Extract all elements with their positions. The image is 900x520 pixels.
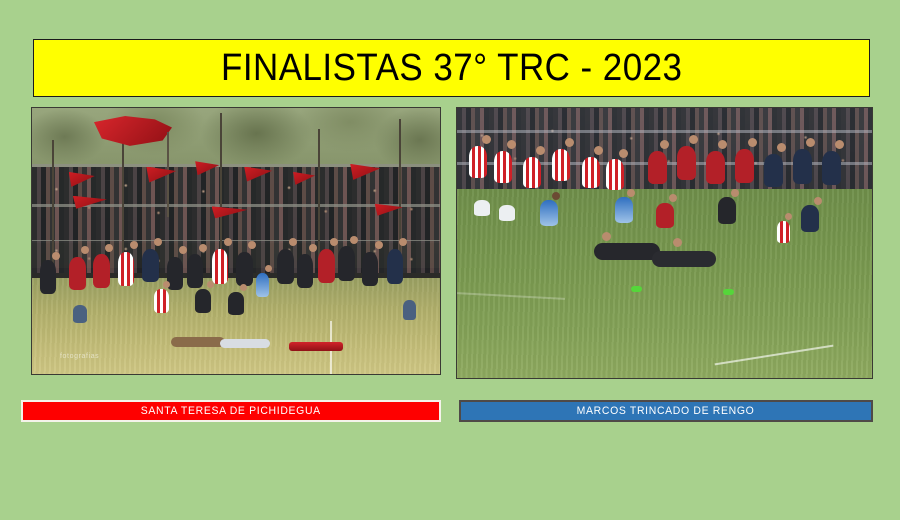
person	[142, 249, 159, 282]
person-kneeling	[228, 292, 244, 315]
person-lying	[171, 337, 225, 347]
player-head	[731, 189, 739, 197]
photo-santa-teresa-scene: fotografias	[32, 108, 440, 374]
player-head	[565, 138, 574, 147]
player	[469, 146, 487, 178]
player-shorts	[474, 200, 490, 216]
poster-canvas: FINALISTAS 37° TRC - 2023	[0, 0, 900, 520]
player-tracksuit	[677, 146, 696, 180]
person-legs	[403, 300, 416, 320]
stand-rail	[457, 130, 872, 133]
staff-head	[835, 140, 844, 149]
fence-post	[122, 124, 124, 273]
child	[256, 273, 269, 297]
goalkeeper-lying	[594, 243, 660, 260]
person	[318, 249, 335, 283]
player	[552, 149, 570, 181]
caption-santa-teresa: SANTA TERESA DE PICHIDEGUA	[21, 400, 441, 422]
person-lying	[220, 339, 270, 348]
person-head	[163, 281, 170, 288]
player	[494, 151, 512, 183]
person	[297, 254, 313, 288]
person	[236, 252, 253, 286]
caption-santa-teresa-label: SANTA TERESA DE PICHIDEGUA	[141, 405, 321, 417]
person	[212, 249, 228, 284]
staff-member	[764, 154, 783, 187]
person-kneeling	[195, 289, 211, 313]
child-supporter	[777, 221, 790, 243]
staff-member	[793, 149, 812, 184]
photo-watermark: fotografias	[60, 353, 99, 360]
stand-rail-top	[32, 164, 440, 167]
goalkeeper-lying	[652, 251, 716, 267]
photo-marcos-trincado	[456, 107, 873, 379]
staff-head	[814, 197, 822, 205]
person-head	[130, 241, 138, 249]
player-tracksuit	[706, 151, 725, 184]
staff-head	[777, 143, 786, 152]
player-tracksuit	[648, 151, 667, 184]
person	[362, 252, 378, 286]
page-title: FINALISTAS 37° TRC - 2023	[221, 47, 682, 90]
player-tracksuit	[735, 149, 754, 183]
person	[40, 260, 56, 294]
player-crouching	[615, 197, 633, 223]
caption-marcos-trincado: MARCOS TRINCADO DE RENGO	[459, 400, 873, 422]
player-head	[619, 149, 628, 158]
person-legs	[73, 305, 87, 323]
flag-on-grass	[289, 342, 343, 351]
player	[582, 157, 600, 188]
photo-marcos-trincado-scene	[457, 108, 872, 378]
person	[118, 252, 134, 286]
player-shorts	[499, 205, 515, 221]
staff-head	[806, 138, 815, 147]
person	[93, 254, 110, 288]
person-kneeling	[154, 289, 169, 313]
goalkeeper-head	[673, 238, 682, 247]
football-boot	[631, 286, 642, 292]
photo-santa-teresa: fotografias	[31, 107, 441, 375]
person	[277, 249, 294, 284]
player-head	[594, 146, 603, 155]
person-head	[240, 284, 247, 291]
person	[387, 249, 403, 284]
caption-marcos-trincado-label: MARCOS TRINCADO DE RENGO	[577, 405, 755, 417]
player-crouching	[656, 203, 674, 228]
title-banner: FINALISTAS 37° TRC - 2023	[33, 39, 870, 97]
player-head	[536, 146, 545, 155]
person	[338, 246, 355, 281]
person-head	[350, 236, 358, 244]
player-head	[482, 135, 491, 144]
child-head	[265, 265, 272, 272]
player-crouching	[718, 197, 736, 224]
player	[606, 159, 624, 190]
staff-crouching	[801, 205, 819, 232]
person	[69, 257, 86, 290]
person	[187, 254, 203, 288]
player-head	[748, 138, 757, 147]
person-head	[199, 244, 207, 252]
staff-member	[822, 151, 841, 185]
football-boot	[723, 289, 734, 295]
person-head	[375, 241, 383, 249]
player	[523, 157, 541, 188]
player-crouching	[540, 200, 558, 226]
